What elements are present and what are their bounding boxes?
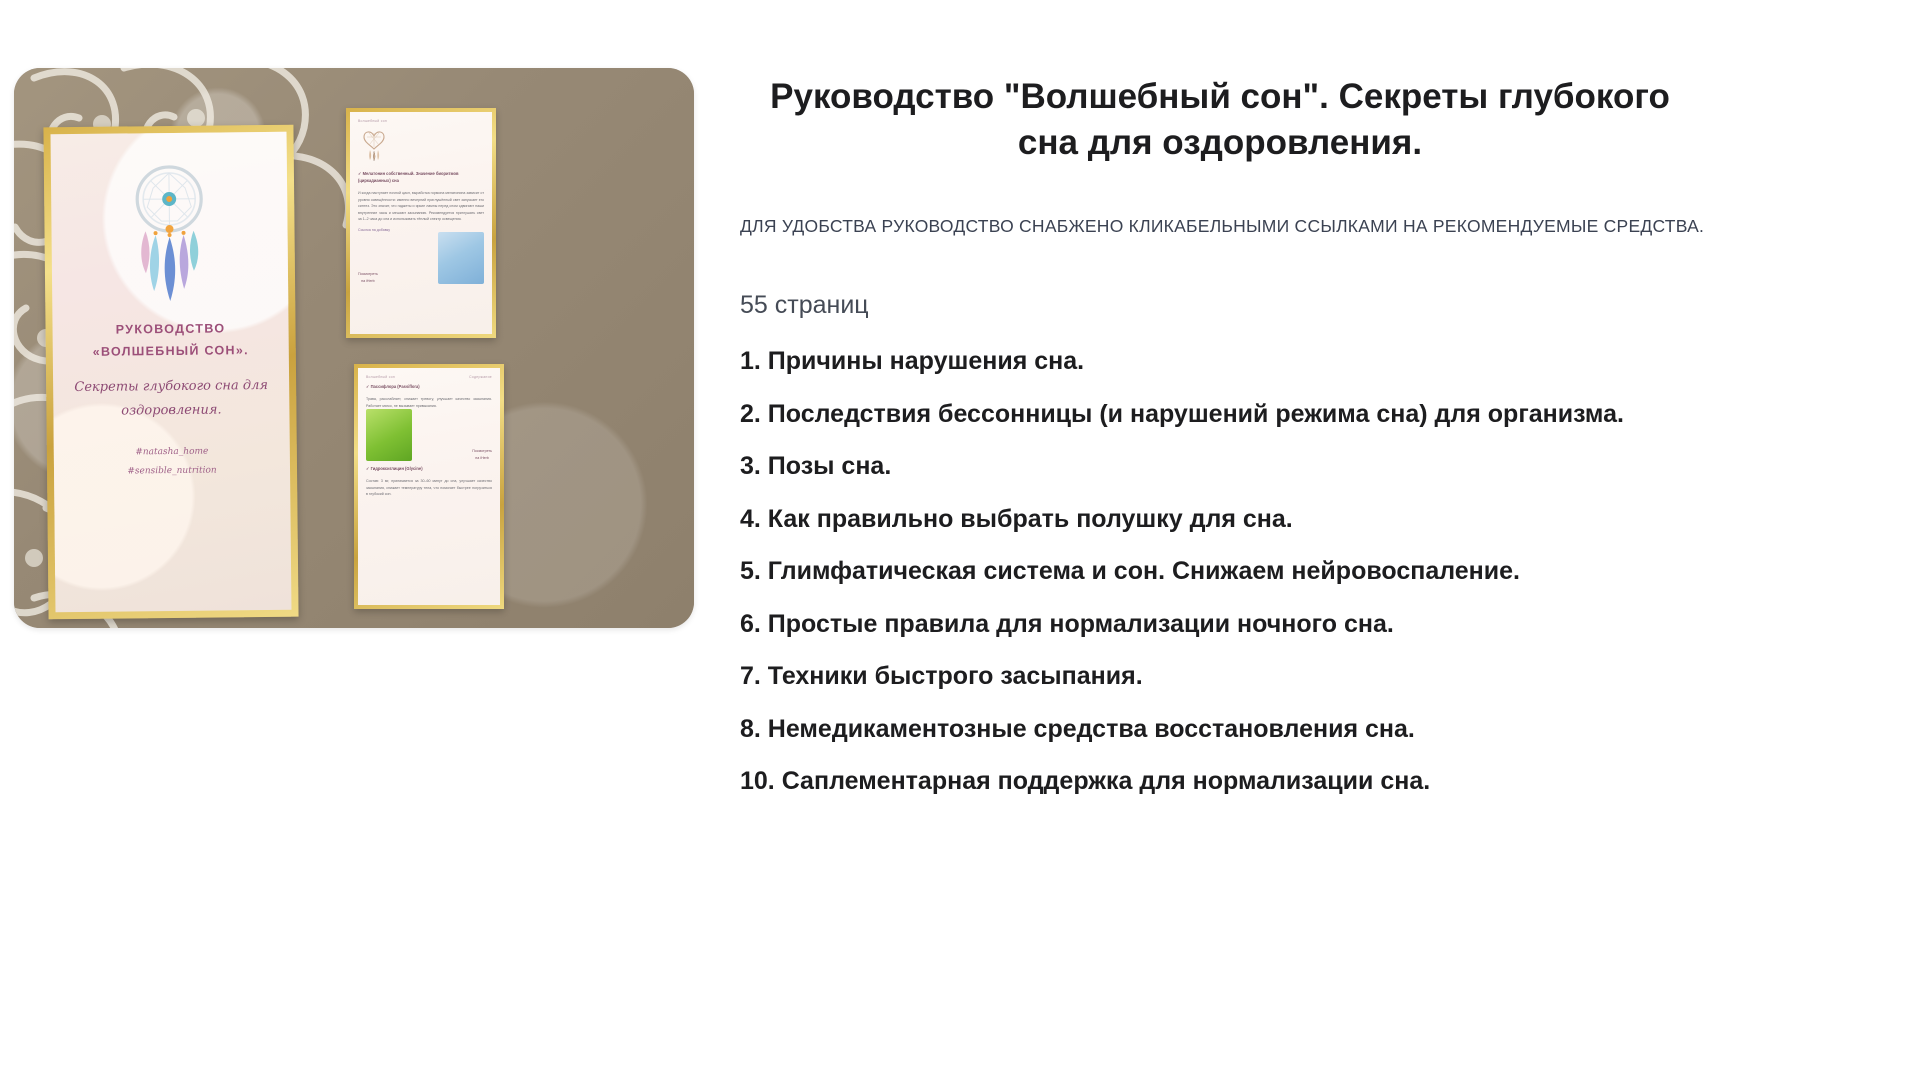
- list-item: 1. Причины нарушения сна.: [740, 341, 1920, 382]
- page-preview-1-inner: Волшебный сон: [350, 112, 492, 334]
- page-preview-1-cta-line-2: на iHerb: [358, 278, 378, 284]
- list-item: 2. Последствия бессонницы (и нарушений р…: [740, 394, 1920, 435]
- table-of-contents: 55 страниц 1. Причины нарушения сна. 2. …: [740, 285, 1920, 802]
- list-item: 3. Позы сна.: [740, 446, 1920, 487]
- page-preview-2-cta[interactable]: Посмотреть на iHerb: [472, 448, 492, 461]
- product-subtitle: ДЛЯ УДОБСТВА РУКОВОДСТВО СНАБЖЕНО КЛИКАБ…: [740, 212, 1800, 240]
- cover-handle-primary: #natasha_home: [127, 442, 217, 462]
- product-image-column: РУКОВОДСТВО «ВОЛШЕБНЫЙ СОН». Секреты глу…: [0, 0, 720, 1080]
- page-preview-2-heading-secondary: ✓ Гидроксиглицин (Glycine): [366, 466, 492, 473]
- page-title: Руководство "Волшебный сон". Секреты глу…: [740, 0, 1700, 166]
- page-preview-thumbnail-1[interactable]: Волшебный сон: [346, 108, 496, 338]
- page-preview-2-inner: Волшебный сон Содержание ✓ Пассифлора (P…: [358, 368, 500, 605]
- dreamcatcher-heart-icon: [360, 125, 388, 161]
- cover-title-line-1: РУКОВОДСТВО: [92, 318, 248, 342]
- cover-title-line-2: «ВОЛШЕБНЫЙ СОН».: [93, 340, 249, 364]
- product-details-column: Руководство "Волшебный сон". Секреты глу…: [740, 0, 1920, 1080]
- page-preview-2-body: Трава, расслабляет, снижает тревогу, улу…: [366, 396, 492, 409]
- page-preview-2-body-secondary: Состав: 3 мг, принимается за 30–60 минут…: [366, 478, 492, 498]
- page-preview-1-footer: Посмотреть на iHerb: [358, 232, 484, 284]
- page-preview-1-header: Волшебный сон: [358, 119, 484, 123]
- cover-inner: РУКОВОДСТВО «ВОЛШЕБНЫЙ СОН». Секреты глу…: [51, 132, 292, 612]
- cover-subtitle-line-1: Секреты глубокого сна для: [71, 374, 271, 400]
- list-item: 8. Немедикаментозные средства восстановл…: [740, 709, 1920, 750]
- cover-subtitle: Секреты глубокого сна для оздоровления.: [71, 374, 271, 424]
- page-preview-1-product-image: [438, 232, 484, 284]
- cover-social-handles: #natasha_home #sensible_nutrition: [127, 442, 217, 481]
- list-item: 6. Простые правила для нормализации ночн…: [740, 604, 1920, 645]
- page-count-label: 55 страниц: [740, 285, 1920, 326]
- product-page: РУКОВОДСТВО «ВОЛШЕБНЫЙ СОН». Секреты глу…: [0, 0, 1920, 1080]
- cover-subtitle-line-2: оздоровления.: [71, 398, 271, 424]
- page-preview-thumbnail-2[interactable]: Волшебный сон Содержание ✓ Пассифлора (P…: [354, 364, 504, 609]
- cover-handle-secondary: #sensible_nutrition: [127, 461, 217, 481]
- list-item: 4. Как правильно выбрать полушку для сна…: [740, 499, 1920, 540]
- page-preview-2-header: Волшебный сон Содержание: [366, 375, 492, 379]
- page-preview-2-heading: ✓ Пассифлора (Passiflora): [366, 384, 492, 391]
- page-preview-1-cta[interactable]: Посмотреть на iHerb: [358, 271, 378, 284]
- list-item: 5. Глимфатическая система и сон. Снижаем…: [740, 551, 1920, 592]
- page-preview-1-header-left: Волшебный сон: [358, 119, 387, 123]
- dreamcatcher-icon: [115, 154, 225, 305]
- page-preview-2-product-image: [366, 409, 412, 461]
- page-preview-2-header-left: Волшебный сон: [366, 375, 395, 379]
- page-preview-2-footer-top: Посмотреть на iHerb: [366, 409, 492, 461]
- list-item: 10. Саплементарная поддержка для нормали…: [740, 761, 1920, 802]
- page-preview-2-header-right: Содержание: [469, 375, 492, 379]
- page-preview-2-cta-line-2: на iHerb: [472, 455, 492, 461]
- page-preview-1-cta-line-1: Посмотреть: [358, 271, 378, 277]
- list-item: 7. Техники быстрого засыпания.: [740, 656, 1920, 697]
- guide-cover[interactable]: РУКОВОДСТВО «ВОЛШЕБНЫЙ СОН». Секреты глу…: [43, 125, 298, 620]
- product-mockup-image[interactable]: РУКОВОДСТВО «ВОЛШЕБНЫЙ СОН». Секреты глу…: [14, 68, 694, 628]
- page-preview-2-cta-line-1: Посмотреть: [472, 448, 492, 454]
- page-preview-1-body: И когда наступает ночной цикл, выработка…: [358, 190, 484, 223]
- page-preview-1-heading: ✓ Мелатонин собственный. Значение биорит…: [358, 171, 484, 185]
- cover-title: РУКОВОДСТВО «ВОЛШЕБНЫЙ СОН».: [92, 318, 249, 363]
